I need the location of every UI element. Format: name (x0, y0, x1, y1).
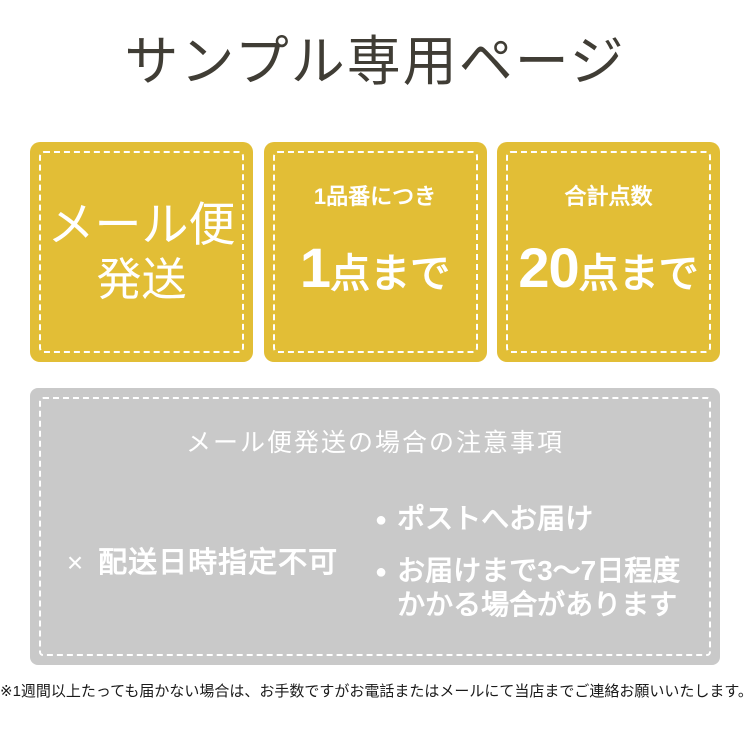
page-title: サンプル専用ページ (0, 32, 750, 92)
notice-heading: メール便発送の場合の注意事項 (30, 428, 720, 458)
total-value: 20 点まで (518, 240, 698, 296)
notice-body: × 配送日時指定不可 ● ポストへお届け ● お届けまで3〜7日程度 かかる場合… (30, 498, 720, 628)
shipping-method-line1: メール便 (48, 197, 236, 253)
footer-note: ※1週間以上たっても届かない場合は、お手数ですがお電話またはメールにて当店までご… (0, 682, 750, 702)
total-unit: 点まで (579, 254, 699, 294)
per-item-value: 1 点まで (300, 240, 450, 296)
card-per-item-limit: 1品番につき 1 点まで (264, 142, 487, 362)
per-item-unit: 点まで (330, 254, 450, 294)
info-cards-row: メール便 発送 1品番につき 1 点まで 合計点数 20 点まで (30, 142, 720, 362)
notice-panel: メール便発送の場合の注意事項 × 配送日時指定不可 ● ポストへお届け ● (30, 388, 720, 665)
list-item: ● ポストへお届け (375, 502, 720, 538)
bullet-dot-icon: ● (375, 502, 387, 538)
bullet-line-2: かかる場合があります (397, 588, 680, 622)
per-item-caption: 1品番につき (314, 184, 436, 210)
card-total-limit: 合計点数 20 点まで (497, 142, 720, 362)
bullet-line-1: お届けまで3〜7日程度 (397, 555, 680, 586)
no-date-designation-item: × 配送日時指定不可 (67, 546, 338, 580)
no-date-designation-label: 配送日時指定不可 (98, 546, 338, 580)
bullet-dot-icon: ● (375, 554, 387, 590)
per-item-number: 1 (300, 240, 330, 296)
total-number: 20 (518, 240, 578, 296)
sample-info-page: サンプル専用ページ メール便 発送 1品番につき 1 点まで 合計点数 20 点… (0, 0, 750, 750)
bullet-line-1: ポストへお届け (397, 503, 593, 534)
bullet-text: ポストへお届け (397, 502, 593, 536)
cross-icon: × (67, 546, 84, 580)
card-shipping-method: メール便 発送 (30, 142, 253, 362)
shipping-method-line2: 発送 (96, 253, 186, 307)
notice-right-column: ● ポストへお届け ● お届けまで3〜7日程度 かかる場合があります (375, 498, 720, 622)
bullet-text: お届けまで3〜7日程度 かかる場合があります (397, 554, 680, 622)
total-caption: 合計点数 (564, 184, 652, 210)
notice-left-column: × 配送日時指定不可 (30, 498, 375, 628)
list-item: ● お届けまで3〜7日程度 かかる場合があります (375, 554, 720, 622)
